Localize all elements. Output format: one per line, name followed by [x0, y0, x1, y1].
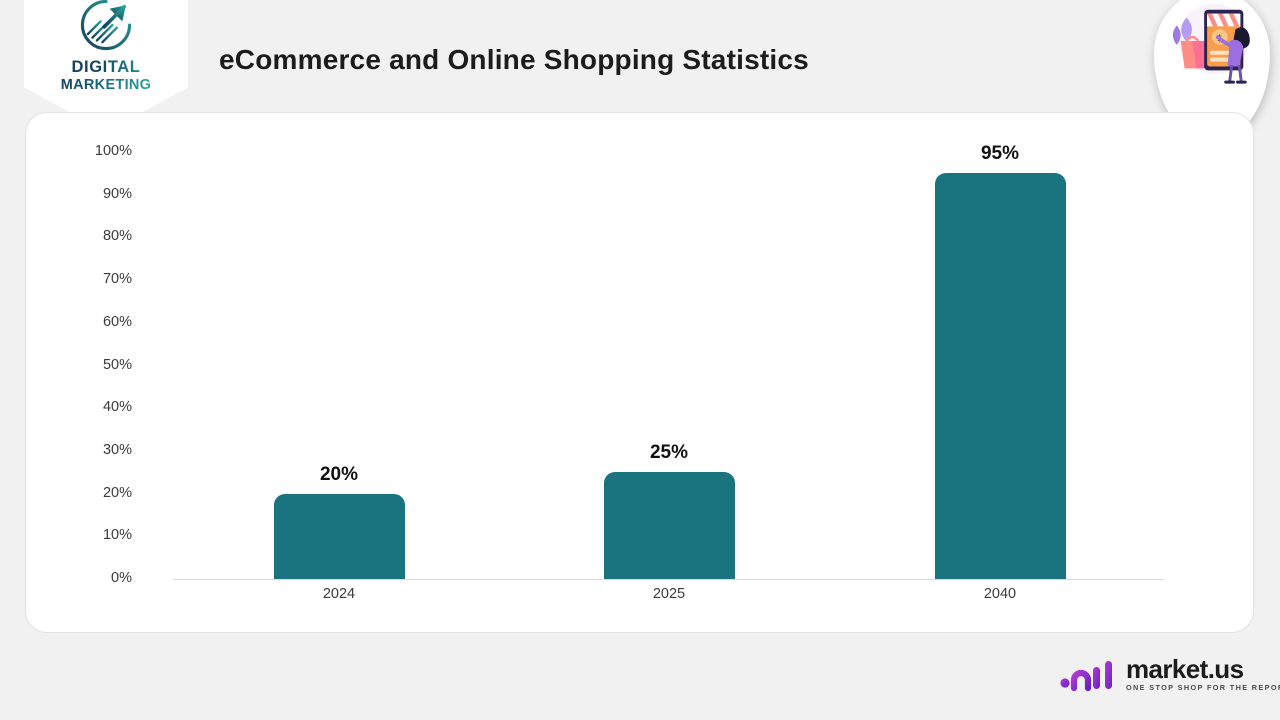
bar-chart-plot: 100%90%80%70%60%50%40%30%20%10%0%20%2024…	[26, 113, 1253, 632]
brand-name-line1: DIGITAL	[72, 58, 141, 77]
brand-name-line2: MARKETING	[61, 77, 152, 93]
y-axis-tick-label: 70%	[103, 271, 132, 287]
bar[interactable]	[604, 472, 735, 579]
market-us-wordmark: market.us	[1126, 654, 1243, 685]
x-axis-category-label: 2024	[279, 586, 399, 602]
slide-root: eCommerce and Online Shopping Statistics…	[0, 0, 1280, 720]
y-axis-tick-label: 0%	[111, 570, 132, 586]
y-axis-tick-label: 60%	[103, 314, 132, 330]
market-us-logo: market.us ONE STOP SHOP FOR THE REPORTS	[1060, 654, 1260, 700]
x-axis-category-label: 2025	[609, 586, 729, 602]
y-axis-tick-label: 90%	[103, 186, 132, 202]
ecommerce-shopping-illustration: $	[1163, 0, 1261, 88]
growth-arrow-circle-icon	[77, 0, 135, 54]
y-axis-tick-label: 20%	[103, 485, 132, 501]
market-us-tagline: ONE STOP SHOP FOR THE REPORTS	[1126, 683, 1280, 692]
page-title: eCommerce and Online Shopping Statistics	[219, 44, 809, 76]
bar-value-label: 20%	[279, 464, 399, 486]
bar[interactable]	[274, 494, 405, 579]
y-axis-tick-label: 30%	[103, 442, 132, 458]
brand-word: market	[1126, 654, 1208, 684]
y-axis-tick-label: 80%	[103, 228, 132, 244]
chart-card: 100%90%80%70%60%50%40%30%20%10%0%20%2024…	[25, 112, 1254, 633]
bar-value-label: 25%	[609, 442, 729, 464]
y-axis-tick-label: 50%	[103, 357, 132, 373]
x-axis-category-label: 2040	[940, 586, 1060, 602]
bar-value-label: 95%	[940, 143, 1060, 165]
x-axis-baseline	[173, 579, 1164, 580]
y-axis-tick-label: 40%	[103, 399, 132, 415]
y-axis-tick-label: 10%	[103, 527, 132, 543]
market-us-bars-icon	[1060, 658, 1118, 692]
y-axis-tick-label: 100%	[95, 143, 132, 159]
bar[interactable]	[935, 173, 1066, 579]
brand-suffix: .us	[1208, 654, 1244, 684]
